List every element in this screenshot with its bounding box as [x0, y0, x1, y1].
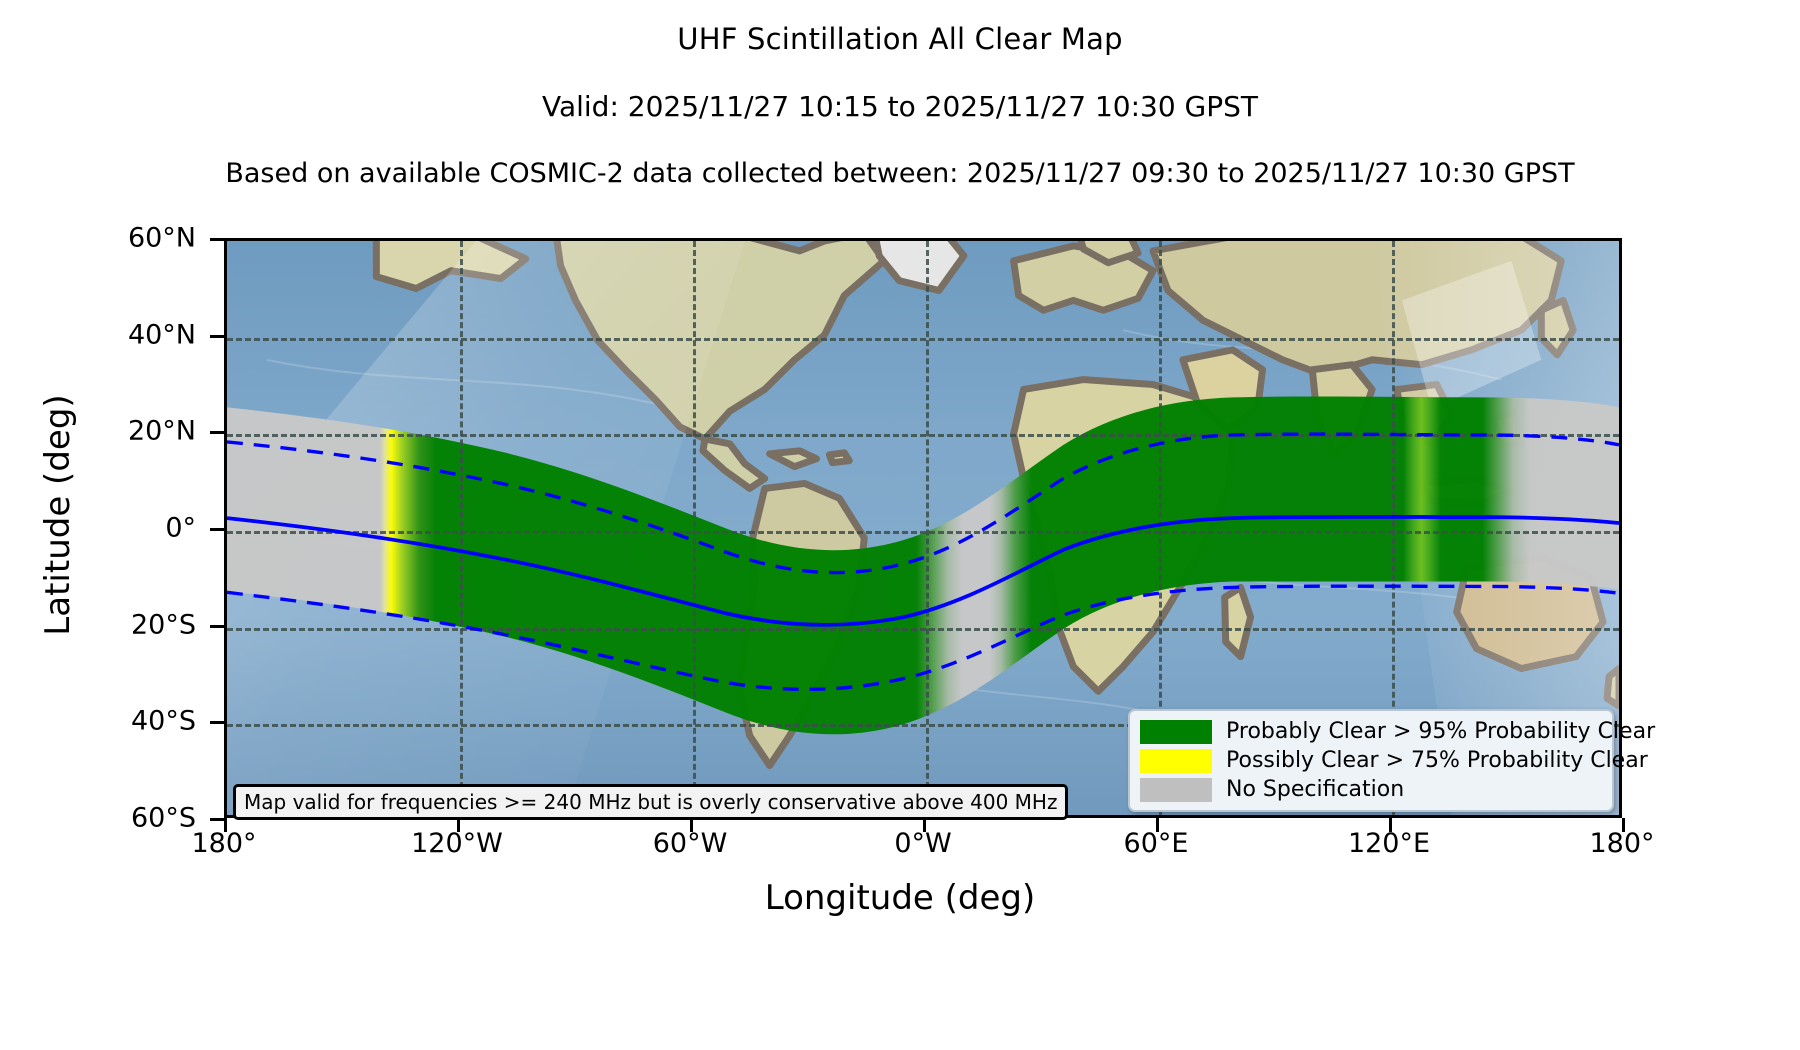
magnetic-equator-line: [227, 517, 1619, 625]
valid-period-subtitle: Valid: 2025/11/27 10:15 to 2025/11/27 10…: [0, 90, 1800, 123]
ytick-label-40s: 40°S: [0, 706, 196, 737]
northern-boundary-line: [227, 434, 1619, 572]
y-axis-title: Latitude (deg): [38, 225, 78, 805]
page-title: UHF Scintillation All Clear Map: [0, 22, 1800, 56]
legend-label-possibly-clear: Possibly Clear > 75% Probability Clear: [1226, 748, 1648, 773]
ytick-label-60n: 60°N: [0, 223, 196, 254]
legend-swatch-possibly-clear: [1140, 749, 1212, 773]
tickmark-lat-60n: [210, 238, 224, 241]
xtick-label-180w: 180°: [124, 828, 324, 859]
tickmark-lat-40s: [210, 721, 224, 724]
xtick-label-180e: 180°: [1522, 828, 1722, 859]
tickmark-lat-0: [210, 528, 224, 531]
xtick-label-120e: 120°E: [1289, 828, 1489, 859]
xtick-label-60e: 60°E: [1056, 828, 1256, 859]
map-legend: Probably Clear > 95% Probability Clear P…: [1128, 709, 1614, 812]
ytick-label-20n: 20°N: [0, 416, 196, 447]
tickmark-lat-60s: [210, 818, 224, 821]
x-axis-title: Longitude (deg): [0, 878, 1800, 918]
legend-label-probably-clear: Probably Clear > 95% Probability Clear: [1226, 719, 1655, 744]
ytick-label-20s: 20°S: [0, 609, 196, 640]
tickmark-lat-20s: [210, 625, 224, 628]
legend-swatch-probably-clear: [1140, 720, 1212, 744]
tickmark-lat-20n: [210, 431, 224, 434]
legend-label-no-specification: No Specification: [1226, 777, 1404, 802]
xtick-label-60w: 60°W: [590, 828, 790, 859]
legend-swatch-no-specification: [1140, 778, 1212, 802]
tickmark-lat-40n: [210, 335, 224, 338]
legend-item-no-specification: No Specification: [1140, 775, 1602, 804]
xtick-label-120w: 120°W: [357, 828, 557, 859]
xtick-label-0: 0°W: [823, 828, 1023, 859]
data-source-subtitle: Based on available COSMIC-2 data collect…: [0, 158, 1800, 189]
ytick-label-0: 0°: [0, 513, 196, 544]
southern-boundary-line: [227, 586, 1619, 689]
legend-item-probably-clear: Probably Clear > 95% Probability Clear: [1140, 717, 1602, 746]
ytick-label-40n: 40°N: [0, 319, 196, 350]
map-validity-note: Map valid for frequencies >= 240 MHz but…: [233, 784, 1068, 820]
scintillation-map-figure: UHF Scintillation All Clear Map Valid: 2…: [0, 0, 1800, 1050]
legend-item-possibly-clear: Possibly Clear > 75% Probability Clear: [1140, 746, 1602, 775]
